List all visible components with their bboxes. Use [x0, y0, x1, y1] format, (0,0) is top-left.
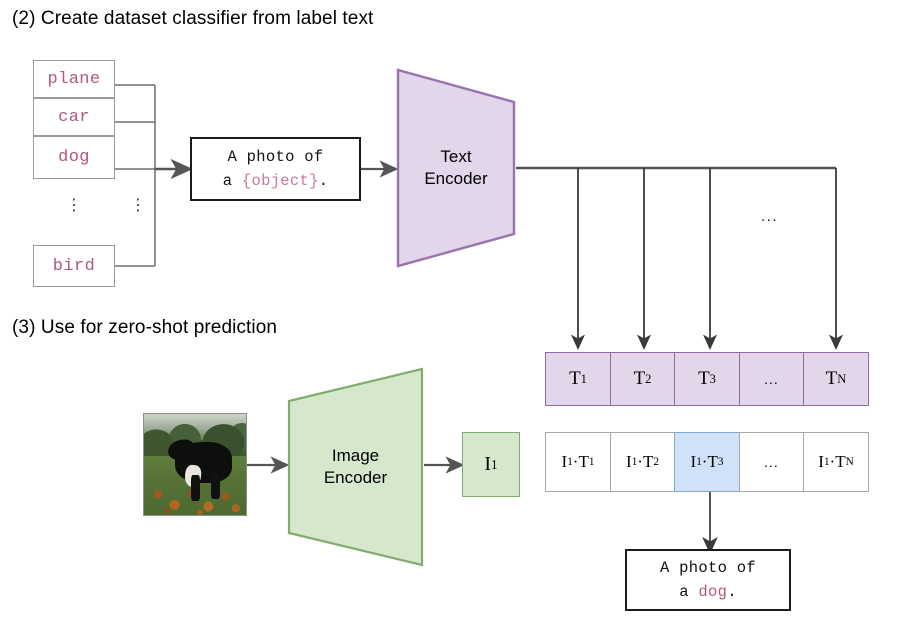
- label-box-dog[interactable]: dog: [33, 136, 115, 179]
- fanout-ellipsis: ...: [761, 208, 778, 225]
- t2-symbol: T: [634, 368, 646, 390]
- text-encoder-line-1: Text: [424, 146, 487, 168]
- similarity-cell-1[interactable]: I1·T1: [545, 432, 611, 492]
- similarity-cell-2[interactable]: I1·T2: [610, 432, 676, 492]
- section-2-title: (2) Create dataset classifier from label…: [12, 8, 373, 30]
- s2-left: I: [626, 452, 632, 472]
- similarity-cell-3-selected[interactable]: I1·T3: [674, 432, 740, 492]
- text-embedding-row: T1 T2 T3 ... TN: [545, 352, 869, 406]
- sn-right: T: [835, 452, 845, 472]
- similarity-cell-ellipsis: ...: [739, 432, 805, 492]
- s3-right: T: [707, 452, 717, 472]
- prompt-line-1: A photo of: [227, 145, 323, 169]
- label-box-plane[interactable]: plane: [33, 60, 115, 98]
- prompt-line-2: a {object}.: [223, 169, 329, 193]
- prompt-template-box[interactable]: A photo of a {object}.: [190, 137, 361, 201]
- i1-symbol: I: [484, 453, 491, 476]
- similarity-cell-n[interactable]: I1·TN: [803, 432, 869, 492]
- text-embedding-cell-2[interactable]: T2: [610, 352, 676, 406]
- t-ellipsis: ...: [764, 371, 779, 387]
- labels-vertical-ellipsis-left: ⋮: [66, 198, 82, 214]
- prediction-line-2: a dog.: [679, 580, 737, 604]
- text-embedding-cell-ellipsis: ...: [739, 352, 805, 406]
- prompt-line-2-prefix: a: [223, 172, 242, 190]
- image-encoder[interactable]: Image Encoder: [287, 367, 424, 567]
- text-embedding-cell-1[interactable]: T1: [545, 352, 611, 406]
- label-bracket: [114, 85, 155, 266]
- image-encoder-line-1: Image: [324, 445, 387, 467]
- prompt-object-slot: {object}: [242, 172, 319, 190]
- s2-right: T: [643, 452, 653, 472]
- s-ellipsis: ...: [764, 454, 779, 470]
- text-embedding-cell-n[interactable]: TN: [803, 352, 869, 406]
- s1-right: T: [578, 452, 588, 472]
- text-encoder-line-2: Encoder: [424, 168, 487, 190]
- tn-symbol: T: [826, 368, 838, 390]
- text-encoder-label: Text Encoder: [424, 146, 487, 190]
- image-encoder-label: Image Encoder: [324, 445, 387, 489]
- figure-canvas: (2) Create dataset classifier from label…: [0, 0, 906, 624]
- photo-dog-leg-front: [191, 475, 200, 501]
- prediction-line-2-suffix: .: [727, 583, 737, 601]
- prediction-line-2-prefix: a: [679, 583, 698, 601]
- photo-dog-leg-back: [211, 475, 220, 499]
- prediction-line-1: A photo of: [660, 556, 756, 580]
- input-photo[interactable]: [143, 413, 247, 516]
- prediction-box[interactable]: A photo of a dog.: [625, 549, 791, 611]
- image-embedding-box[interactable]: I1: [462, 432, 520, 497]
- text-embedding-cell-3[interactable]: T3: [674, 352, 740, 406]
- fanout-arrows: [578, 168, 836, 348]
- t3-symbol: T: [698, 368, 710, 390]
- similarity-row: I1·T1 I1·T2 I1·T3 ... I1·TN: [545, 432, 869, 492]
- t1-symbol: T: [569, 368, 581, 390]
- prediction-predicted-class: dog: [698, 583, 727, 601]
- labels-vertical-ellipsis-right: ⋮: [130, 198, 146, 214]
- label-box-car[interactable]: car: [33, 98, 115, 136]
- text-encoder[interactable]: Text Encoder: [396, 68, 516, 268]
- image-encoder-line-2: Encoder: [324, 467, 387, 489]
- label-box-bird[interactable]: bird: [33, 245, 115, 287]
- prompt-line-2-suffix: .: [319, 172, 329, 190]
- section-3-title: (3) Use for zero-shot prediction: [12, 317, 277, 339]
